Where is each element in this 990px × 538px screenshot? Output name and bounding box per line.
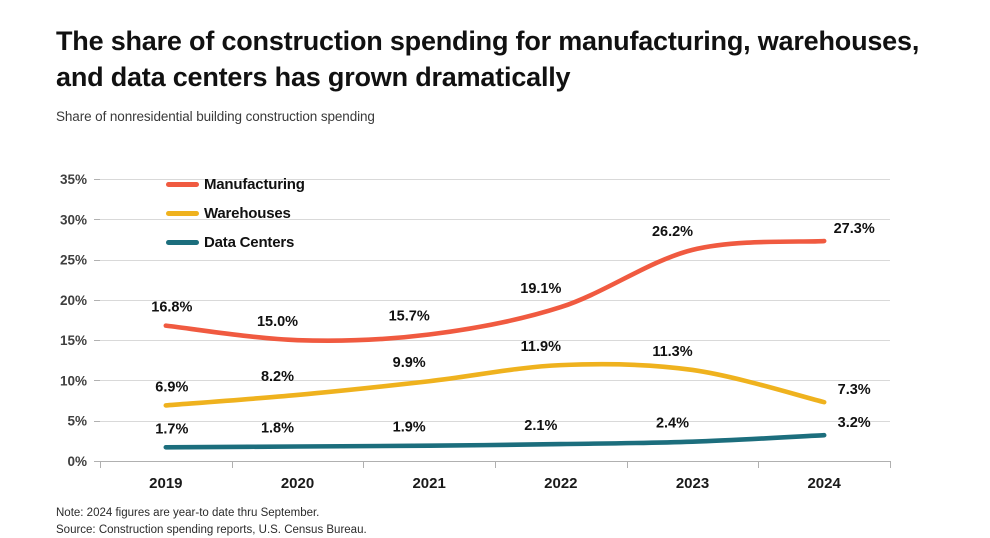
data-point-label: 1.9% [393, 420, 426, 436]
x-axis-tick-label: 2024 [807, 475, 841, 492]
data-point-label: 11.3% [652, 344, 692, 360]
data-series-lines [166, 241, 824, 447]
data-point-label: 7.3% [838, 382, 871, 398]
data-point-label: 2.1% [524, 418, 557, 434]
legend-item-label: Warehouses [204, 205, 291, 222]
data-point-label: 1.8% [261, 420, 294, 436]
y-axis-tick-label: 25% [60, 253, 87, 268]
chart-legend: Manufacturing Warehouses Data Centers [166, 170, 305, 257]
legend-item-data-centers[interactable]: Data Centers [166, 228, 305, 257]
line-chart-svg: 0%5%10%15%20%25%30%35% 20192020202120222… [0, 0, 990, 538]
legend-item-warehouses[interactable]: Warehouses [166, 199, 305, 228]
legend-item-label: Manufacturing [204, 176, 305, 193]
data-point-label: 16.8% [151, 300, 192, 316]
y-axis-tick-label: 20% [60, 293, 87, 308]
data-point-label: 9.9% [393, 355, 426, 371]
y-axis-tick-label: 5% [67, 414, 87, 429]
x-axis-tick-label: 2021 [412, 475, 445, 492]
legend-swatch-icon [166, 211, 199, 216]
data-point-label: 6.9% [155, 379, 188, 395]
data-point-label: 3.2% [838, 415, 871, 431]
data-point-label: 27.3% [834, 221, 875, 237]
x-axis-tick-label: 2020 [281, 475, 314, 492]
data-point-label: 15.7% [389, 309, 430, 325]
chart-plot-area: 0%5%10%15%20%25%30%35% 20192020202120222… [0, 0, 990, 538]
y-axis-tick-label: 35% [60, 172, 87, 187]
footnote-note: Note: 2024 figures are year-to date thru… [56, 505, 656, 522]
data-point-label: 11.9% [521, 339, 561, 355]
data-point-label: 26.2% [652, 224, 693, 240]
y-axis-tick-label: 10% [60, 373, 87, 388]
legend-item-label: Data Centers [204, 234, 294, 251]
y-axis-tick-label: 0% [67, 454, 87, 469]
data-point-label: 8.2% [261, 369, 294, 385]
chart-footnotes: Note: 2024 figures are year-to date thru… [56, 505, 656, 538]
legend-item-manufacturing[interactable]: Manufacturing [166, 170, 305, 199]
x-axis-tick-label: 2022 [544, 475, 577, 492]
x-axis-tick-label: 2023 [676, 475, 709, 492]
legend-swatch-icon [166, 182, 199, 187]
x-axis-tick-labels: 201920202021202220232024 [149, 475, 841, 492]
data-point-label: 1.7% [155, 421, 188, 437]
footnote-source: Source: Construction spending reports, U… [56, 522, 656, 538]
x-axis-tick-label: 2019 [149, 475, 182, 492]
y-axis-tick-labels: 0%5%10%15%20%25%30%35% [60, 172, 87, 469]
y-axis-tick-label: 15% [60, 333, 87, 348]
data-point-label: 15.0% [257, 314, 298, 330]
data-point-label: 2.4% [656, 416, 689, 432]
y-axis-tick-label: 30% [60, 212, 87, 227]
legend-swatch-icon [166, 240, 199, 245]
data-point-label: 19.1% [520, 281, 561, 297]
series-line-data-centers [166, 435, 824, 447]
